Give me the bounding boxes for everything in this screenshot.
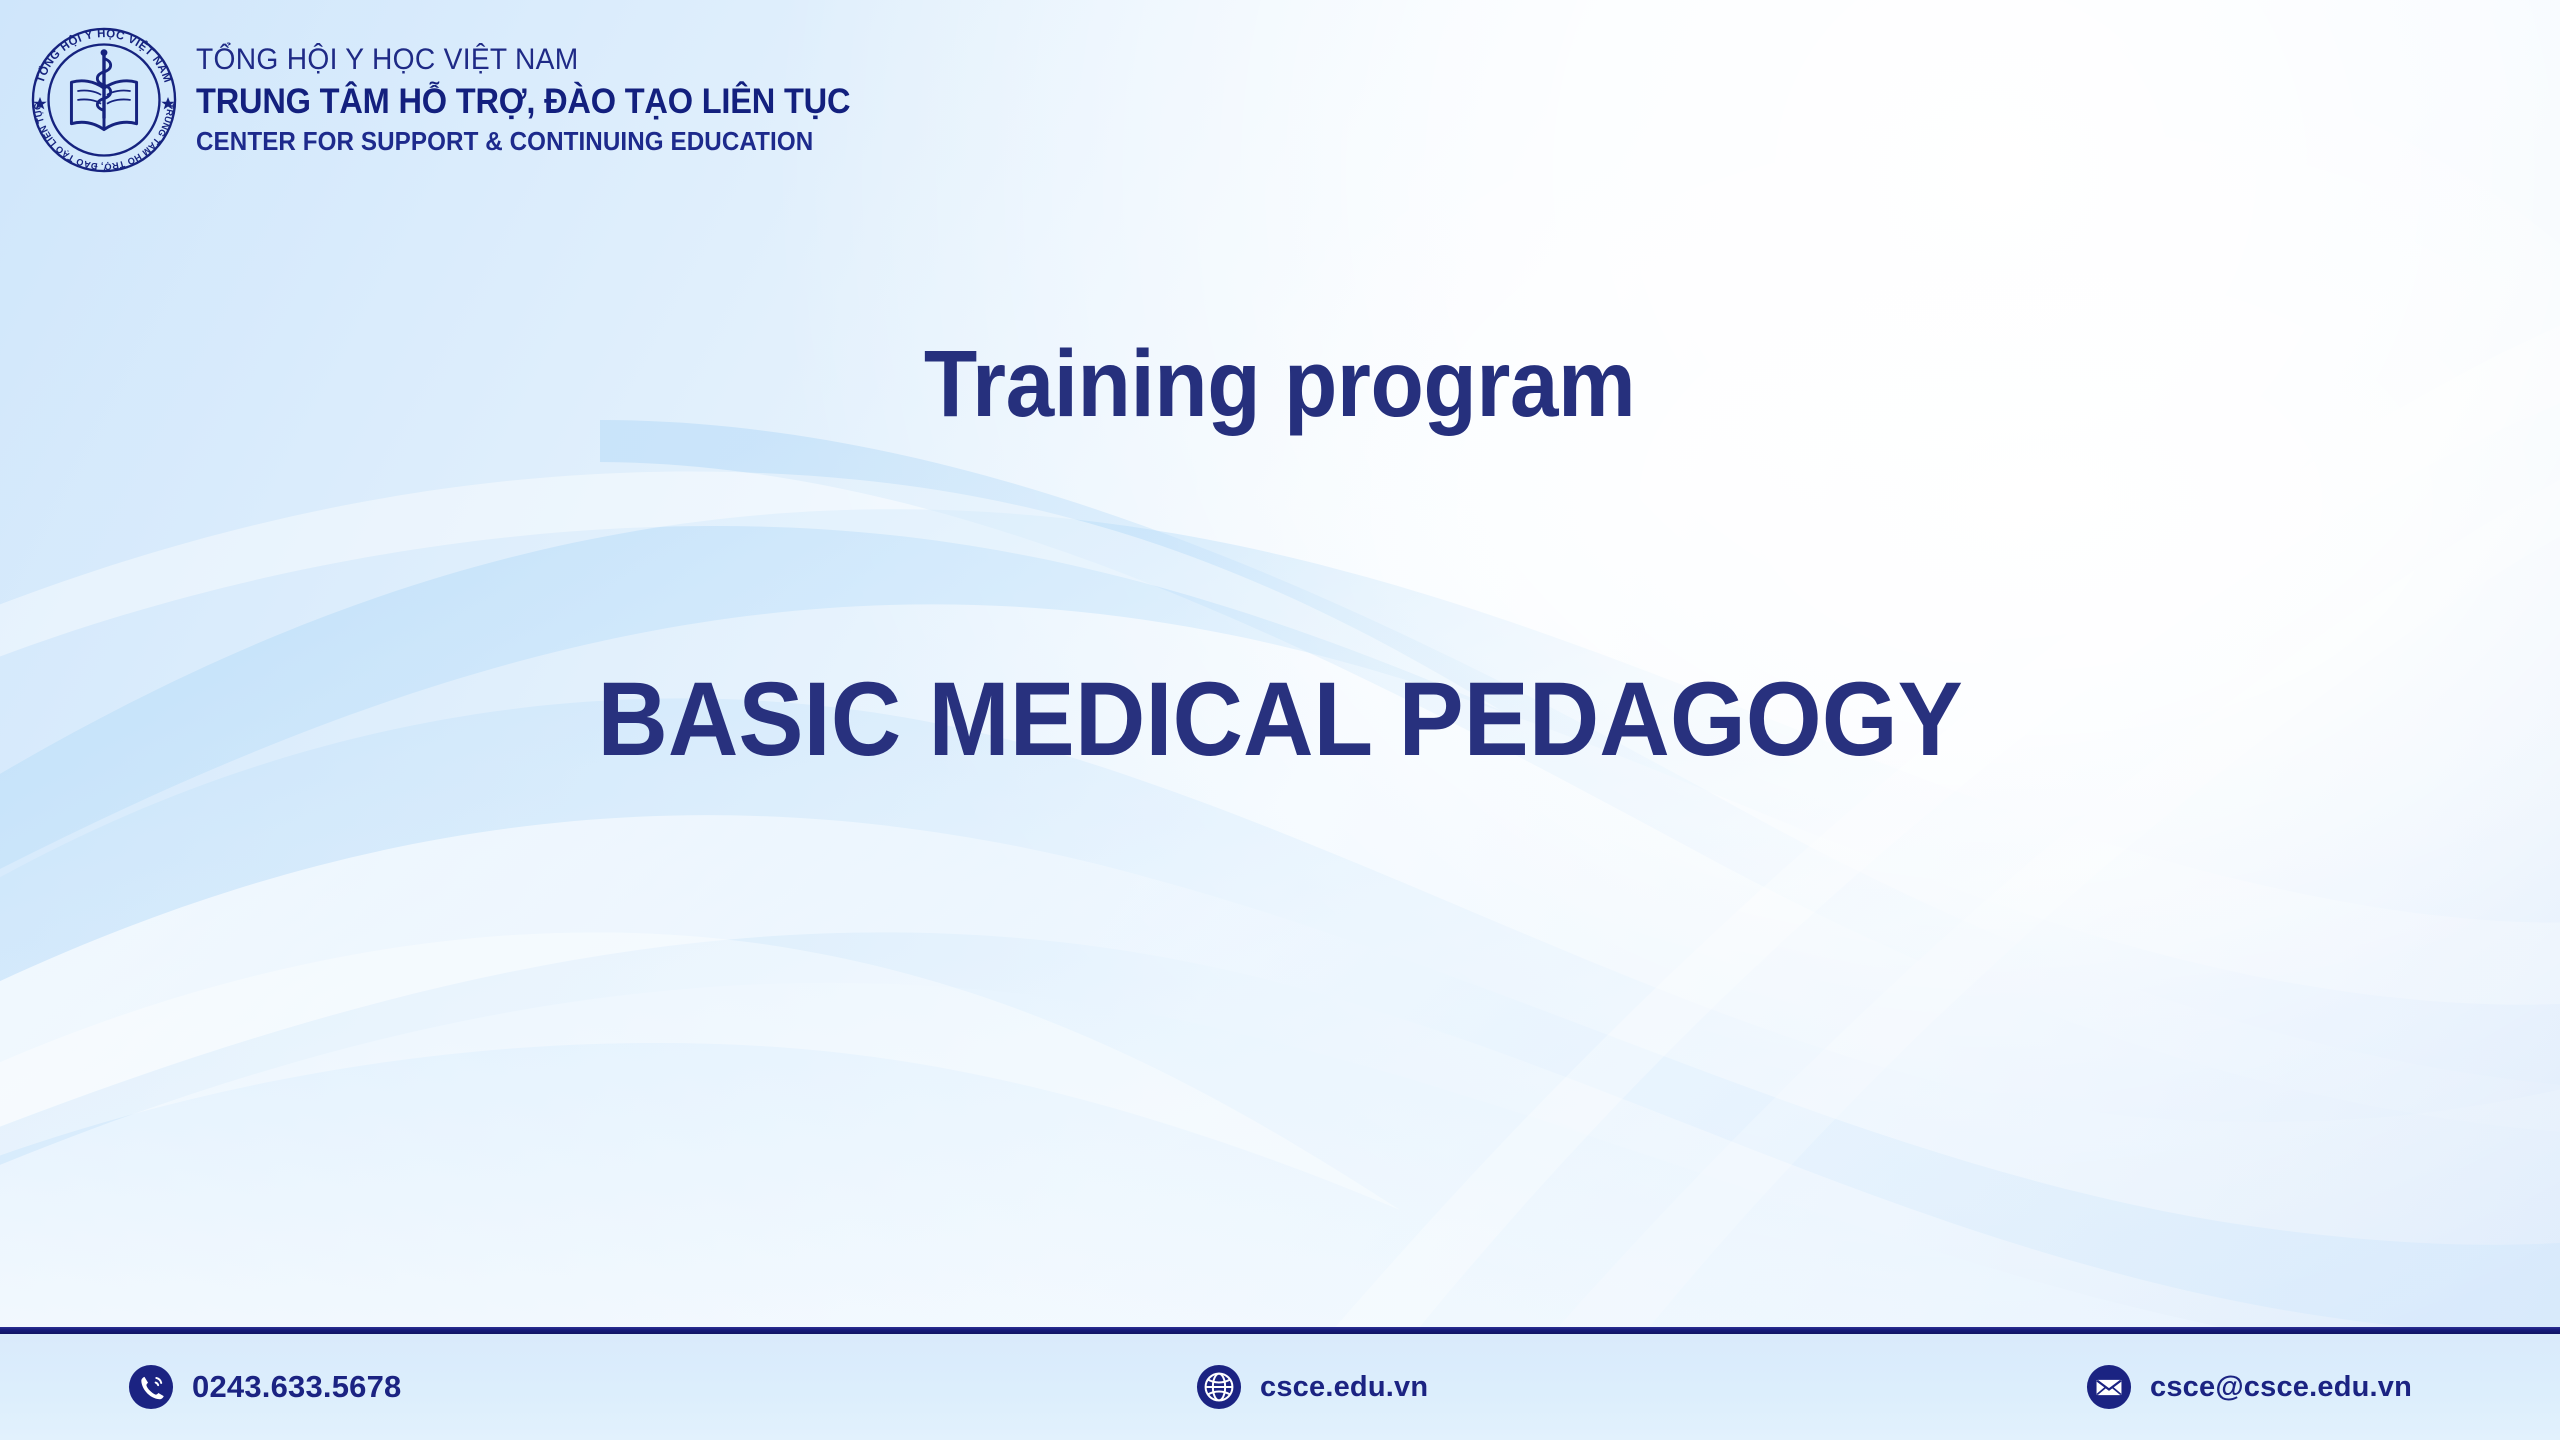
slide-footer: 0243.633.5678 csce.edu.vn	[0, 1334, 2560, 1440]
footer-email[interactable]: csce@csce.edu.vn	[2086, 1364, 2412, 1410]
organization-logo-lockup: TỔNG HỘI Y HỌC VIỆT NAM TRUNG TÂM HỖ TRỢ…	[30, 26, 900, 174]
page-title: BASIC MEDICAL PEDAGOGY	[0, 660, 2560, 780]
title-slide: TỔNG HỘI Y HỌC VIỆT NAM TRUNG TÂM HỖ TRỢ…	[0, 0, 2560, 1440]
envelope-circle-icon	[2086, 1364, 2132, 1410]
phone-circle-icon	[128, 1364, 174, 1410]
footer-phone-label: 0243.633.5678	[192, 1369, 401, 1405]
page-title-text: BASIC MEDICAL PEDAGOGY	[597, 660, 1962, 780]
organization-name-block: TỔNG HỘI Y HỌC VIỆT NAM TRUNG TÂM HỖ TRỢ…	[196, 45, 900, 156]
slide-kicker: Training program	[0, 330, 2560, 439]
open-book-with-caduceus-seal-icon: TỔNG HỘI Y HỌC VIỆT NAM TRUNG TÂM HỖ TRỢ…	[30, 26, 178, 174]
org-name-center-vi: TRUNG TÂM HỖ TRỢ, ĐÀO TẠO LIÊN TỤC	[196, 84, 850, 119]
org-name-umbrella: TỔNG HỘI Y HỌC VIỆT NAM	[196, 45, 857, 75]
footer-website[interactable]: csce.edu.vn	[1196, 1364, 1428, 1410]
footer-website-label: csce.edu.vn	[1260, 1371, 1428, 1404]
footer-divider	[0, 1327, 2560, 1334]
footer-phone[interactable]: 0243.633.5678	[128, 1364, 401, 1410]
org-name-center-en: CENTER FOR SUPPORT & CONTINUING EDUCATIO…	[196, 128, 850, 154]
globe-circle-icon	[1196, 1364, 1242, 1410]
footer-email-label: csce@csce.edu.vn	[2150, 1371, 2412, 1404]
slide-kicker-text: Training program	[924, 330, 1635, 439]
